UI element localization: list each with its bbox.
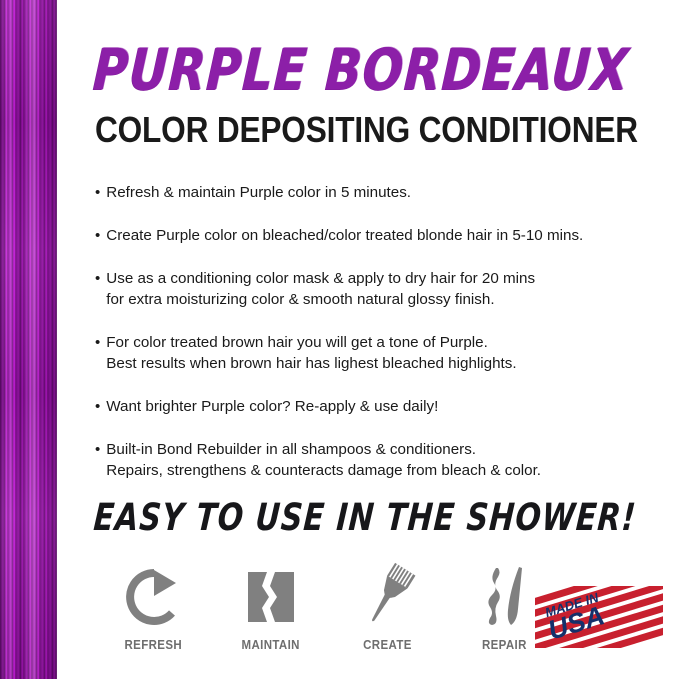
usage-step-label: REPAIR	[482, 638, 527, 652]
bullet-marker-icon: •	[95, 182, 100, 203]
list-item: • Built-in Bond Rebuilder in all shampoo…	[95, 439, 677, 481]
brand-title: PURPLE BORDEAUX	[92, 42, 655, 99]
list-item-line: for extra moisturizing color & smooth na…	[106, 289, 677, 310]
product-subtitle: COLOR DEPOSITING CONDITIONER	[95, 112, 616, 148]
list-item: • Refresh & maintain Purple color in 5 m…	[95, 182, 677, 203]
list-item-text: For color treated brown hair you will ge…	[106, 332, 677, 374]
list-item-text: Create Purple color on bleached/color tr…	[106, 225, 677, 246]
hair-strands-icon	[477, 562, 533, 628]
usage-step-create: CREATE	[329, 562, 446, 652]
refresh-circular-arrow-icon	[123, 562, 185, 628]
usage-step-label: MAINTAIN	[241, 638, 299, 652]
usage-icon-row: REFRESH MAINTAIN	[95, 562, 565, 652]
split-panel-icon	[244, 562, 298, 628]
bullet-marker-icon: •	[95, 332, 100, 353]
list-item-line: Best results when brown hair has lighest…	[106, 353, 677, 374]
list-item-line: Use as a conditioning color mask & apply…	[106, 268, 677, 289]
list-item: • For color treated brown hair you will …	[95, 332, 677, 374]
shower-headline: EASY TO USE IN THE SHOWER!	[92, 500, 637, 538]
list-item-line: Want brighter Purple color? Re-apply & u…	[106, 396, 677, 417]
list-item-text: Built-in Bond Rebuilder in all shampoos …	[106, 439, 677, 481]
list-item-text: Refresh & maintain Purple color in 5 min…	[106, 182, 677, 203]
benefit-list: • Refresh & maintain Purple color in 5 m…	[95, 182, 677, 503]
list-item-line: Built-in Bond Rebuilder in all shampoos …	[106, 439, 677, 460]
list-item-line: For color treated brown hair you will ge…	[106, 332, 677, 353]
usage-step-refresh: REFRESH	[95, 562, 212, 652]
usage-step-label: CREATE	[363, 638, 412, 652]
purple-hair-swatch	[0, 0, 57, 679]
list-item-text: Want brighter Purple color? Re-apply & u…	[106, 396, 677, 417]
hair-vertical-shading	[0, 0, 57, 679]
content-column: PURPLE BORDEAUX COLOR DEPOSITING CONDITI…	[57, 0, 679, 679]
list-item: • Use as a conditioning color mask & app…	[95, 268, 677, 310]
hair-dye-brush-icon	[357, 562, 419, 628]
list-item-line: Refresh & maintain Purple color in 5 min…	[106, 182, 677, 203]
made-in-usa-badge: MADE IN USA	[535, 586, 663, 648]
bullet-marker-icon: •	[95, 396, 100, 417]
usage-step-label: REFRESH	[125, 638, 183, 652]
list-item: • Want brighter Purple color? Re-apply &…	[95, 396, 677, 417]
list-item: • Create Purple color on bleached/color …	[95, 225, 677, 246]
bullet-marker-icon: •	[95, 268, 100, 289]
list-item-text: Use as a conditioning color mask & apply…	[106, 268, 677, 310]
list-item-line: Repairs, strengthens & counteracts damag…	[106, 460, 677, 481]
title-block: PURPLE BORDEAUX COLOR DEPOSITING CONDITI…	[95, 42, 655, 146]
list-item-line: Create Purple color on bleached/color tr…	[106, 225, 677, 246]
usage-step-maintain: MAINTAIN	[212, 562, 329, 652]
bullet-marker-icon: •	[95, 225, 100, 246]
bullet-marker-icon: •	[95, 439, 100, 460]
product-infographic: PURPLE BORDEAUX COLOR DEPOSITING CONDITI…	[0, 0, 679, 679]
